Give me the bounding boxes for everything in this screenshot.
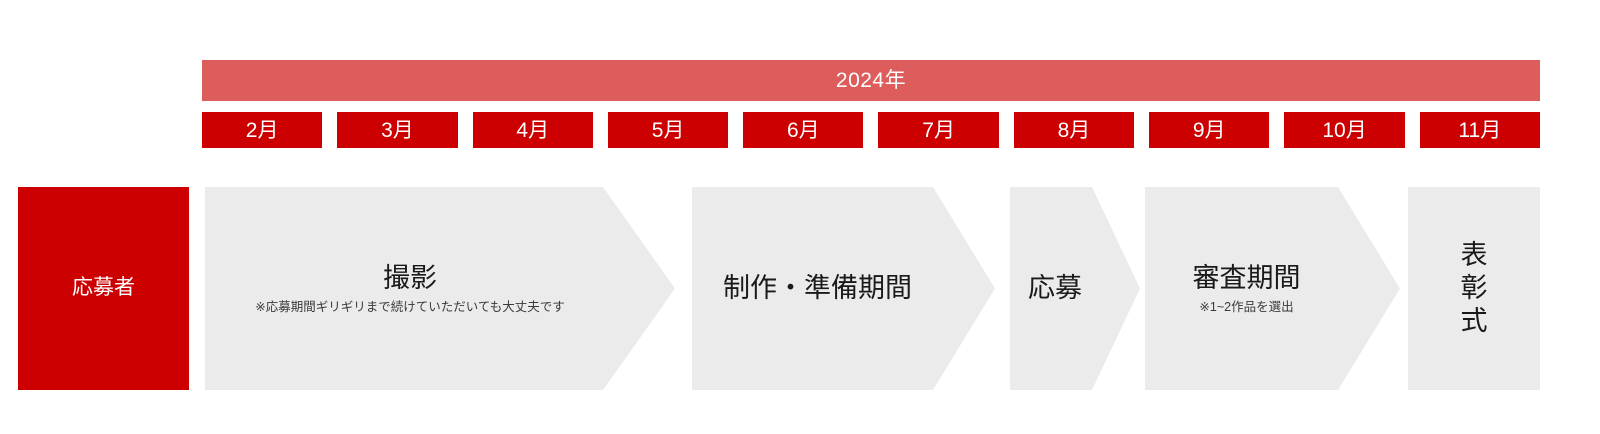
month-strip: 2月 3月 4月 5月 6月 7月 8月 9月 10月 11月 bbox=[202, 112, 1540, 148]
phase-row: 応募者 撮影 ※応募期間ギリギリまで続けていただいても大丈夫です 制作・準備期間… bbox=[0, 187, 1600, 390]
phase-chevron-production: 制作・準備期間 bbox=[692, 187, 995, 390]
phase-title: 応募 bbox=[1028, 272, 1082, 306]
month-box-6: 7月 bbox=[878, 112, 998, 148]
phase-chevron-shooting: 撮影 ※応募期間ギリギリまで続けていただいても大丈夫です bbox=[205, 187, 675, 390]
phase-title: 制作・準備期間 bbox=[723, 272, 912, 306]
month-label: 6月 bbox=[787, 120, 820, 141]
phase-subtitle: ※1~2作品を選出 bbox=[1199, 299, 1293, 315]
month-label: 2月 bbox=[246, 120, 279, 141]
month-label: 5月 bbox=[652, 120, 685, 141]
month-label: 11月 bbox=[1458, 120, 1501, 141]
month-box-7: 8月 bbox=[1014, 112, 1134, 148]
phase-title: 審査期間 bbox=[1193, 262, 1301, 296]
phase-subtitle: ※応募期間ギリギリまで続けていただいても大丈夫です bbox=[255, 299, 564, 315]
month-label: 9月 bbox=[1193, 120, 1226, 141]
phase-title: 撮影 bbox=[383, 262, 437, 296]
month-label: 10月 bbox=[1322, 120, 1366, 141]
month-box-4: 5月 bbox=[608, 112, 728, 148]
year-header-bar: 2024年 bbox=[202, 60, 1540, 101]
phase-chevron-application: 応募 bbox=[1010, 187, 1140, 390]
month-label: 4月 bbox=[516, 120, 549, 141]
phase-box-ceremony: 表彰式 bbox=[1408, 187, 1540, 390]
month-box-10: 11月 bbox=[1420, 112, 1540, 148]
month-box-3: 4月 bbox=[473, 112, 593, 148]
phase-chevron-review: 審査期間 ※1~2作品を選出 bbox=[1145, 187, 1400, 390]
month-box-5: 6月 bbox=[743, 112, 863, 148]
phase-title: 表彰式 bbox=[1461, 239, 1488, 338]
schedule-timeline-diagram: 2024年 2月 3月 4月 5月 6月 7月 8月 9月 10月 1 bbox=[0, 0, 1600, 434]
month-box-1: 2月 bbox=[202, 112, 322, 148]
month-label: 3月 bbox=[381, 120, 414, 141]
month-box-9: 10月 bbox=[1284, 112, 1404, 148]
month-box-8: 9月 bbox=[1149, 112, 1269, 148]
month-label: 7月 bbox=[922, 120, 955, 141]
month-box-2: 3月 bbox=[337, 112, 457, 148]
month-label: 8月 bbox=[1058, 120, 1091, 141]
year-header-label: 2024年 bbox=[836, 70, 906, 91]
actor-label: 応募者 bbox=[72, 275, 135, 301]
actor-cell-applicant: 応募者 bbox=[18, 187, 189, 390]
